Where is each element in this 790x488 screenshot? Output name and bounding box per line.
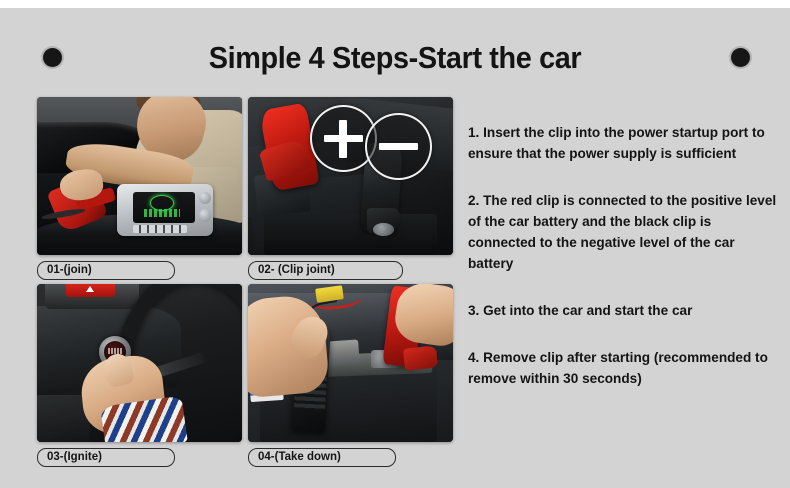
step-photo-03 xyxy=(37,284,242,442)
step-photo-04 xyxy=(248,284,453,442)
instruction-step-2: 2. The red clip is connected to the posi… xyxy=(468,190,778,274)
step-caption-04: 04-(Take down) xyxy=(248,448,396,467)
instruction-step-4: 4. Remove clip after starting (recommend… xyxy=(468,347,778,389)
top-white-strip xyxy=(0,0,790,8)
step-photo-02 xyxy=(248,97,453,255)
instruction-step-1: 1. Insert the clip into the power startu… xyxy=(468,122,778,164)
header: Simple 4 Steps-Start the car xyxy=(0,36,790,82)
infographic-page: Simple 4 Steps-Start the car xyxy=(0,0,790,488)
step-cell-02: 02- (Clip joint) xyxy=(248,97,453,280)
scene-clip-joint xyxy=(248,97,453,255)
step-photo-01 xyxy=(37,97,242,255)
scene-take-down xyxy=(248,284,453,442)
page-title: Simple 4 Steps-Start the car xyxy=(28,36,763,80)
step-caption-02: 02- (Clip joint) xyxy=(248,261,403,280)
step-cell-04: 04-(Take down) xyxy=(248,284,453,467)
step-caption-01: 01-(join) xyxy=(37,261,175,280)
step-cell-01: 01-(join) xyxy=(37,97,242,280)
step-cell-03: 03-(Ignite) xyxy=(37,284,242,467)
photo-grid: 01-(join) xyxy=(37,97,457,477)
scene-ignite xyxy=(37,284,242,442)
negative-terminal-badge-icon xyxy=(365,113,433,180)
step-caption-03: 03-(Ignite) xyxy=(37,448,175,467)
scene-join xyxy=(37,97,242,255)
instruction-step-3: 3. Get into the car and start the car xyxy=(468,300,778,321)
bullet-dot-icon-right xyxy=(731,48,750,67)
instruction-list: 1. Insert the clip into the power startu… xyxy=(468,122,778,389)
